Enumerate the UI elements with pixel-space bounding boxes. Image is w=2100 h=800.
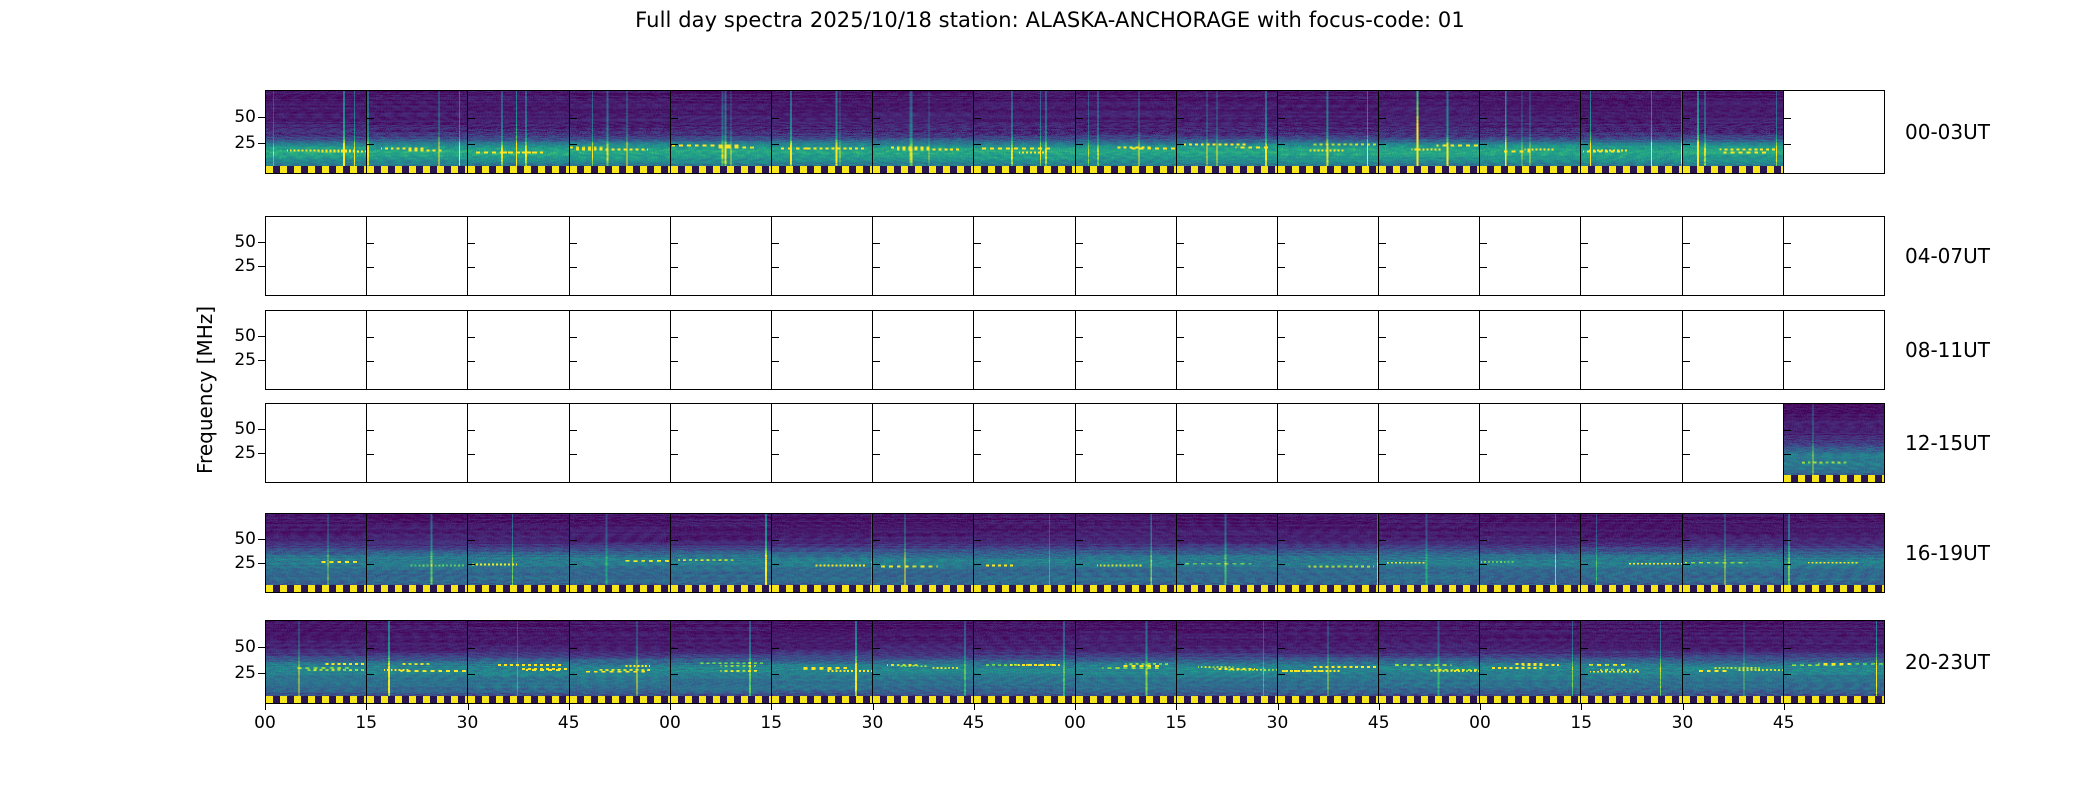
x-axis-tick-label: 15	[760, 713, 782, 733]
y-axis-tick-label: 25	[234, 553, 256, 573]
x-axis-tick	[1784, 704, 1785, 710]
data-availability-strip	[266, 166, 366, 173]
spectrogram-image	[974, 514, 1074, 592]
y-tick-mark	[1177, 454, 1184, 455]
spectrogram-panel	[1682, 621, 1783, 703]
y-tick-mark	[570, 648, 577, 649]
spectrogram-canvas	[468, 91, 568, 173]
y-tick-mark	[1480, 540, 1487, 541]
y-tick-mark	[1581, 430, 1588, 431]
spectrogram-panel	[1075, 311, 1176, 389]
spectrogram-panel	[1479, 404, 1580, 482]
x-axis-tick-label: 45	[1773, 713, 1795, 733]
spectrogram-panel	[1580, 217, 1681, 295]
y-tick-mark	[1581, 540, 1588, 541]
spectrogram-image	[873, 91, 973, 173]
spectrogram-image	[1379, 514, 1479, 592]
spectrogram-image	[772, 621, 872, 703]
spectrogram-panel	[1682, 404, 1783, 482]
data-availability-strip	[873, 166, 973, 173]
spectrogram-canvas	[1379, 621, 1479, 703]
spectrogram-panel	[467, 311, 568, 389]
spectrogram-panel	[1075, 621, 1176, 703]
spectrogram-panel	[1682, 311, 1783, 389]
spectrogram-panel	[1075, 217, 1176, 295]
x-axis-tick	[670, 704, 671, 710]
spectrogram-panel	[872, 621, 973, 703]
spectrogram-panel	[1783, 311, 1884, 389]
y-tick-mark	[1683, 118, 1690, 119]
spectrogram-panel	[771, 514, 872, 592]
data-availability-strip	[1177, 166, 1277, 173]
y-tick-mark	[468, 337, 475, 338]
data-availability-strip	[1278, 166, 1378, 173]
y-tick-mark	[772, 430, 779, 431]
y-tick-mark	[873, 430, 880, 431]
y-tick-mark	[1581, 337, 1588, 338]
y-tick-mark	[974, 144, 981, 145]
spectrogram-panel	[771, 217, 872, 295]
y-tick-mark	[1480, 454, 1487, 455]
data-availability-strip	[1177, 696, 1277, 703]
panel-strip	[266, 217, 1884, 295]
spectrogram-panel	[1783, 217, 1884, 295]
panel-strip	[266, 621, 1884, 703]
x-axis-tick-label: 30	[1672, 713, 1694, 733]
spectrogram-canvas	[570, 621, 670, 703]
spectrogram-image	[1784, 404, 1884, 482]
spectrogram-panel	[467, 217, 568, 295]
spectrogram-panel	[266, 514, 366, 592]
y-tick-mark	[974, 674, 981, 675]
row-frame	[265, 90, 1885, 174]
spectrogram-panel	[1580, 91, 1681, 173]
y-axis-label: Frequency [MHz]	[188, 180, 222, 600]
y-tick-mark	[1683, 267, 1690, 268]
spectrogram-row-16-19ut: 5025	[265, 513, 1885, 593]
spectrogram-canvas	[1581, 514, 1681, 592]
y-axis-tick-label: 50	[234, 637, 256, 657]
data-availability-strip	[1480, 585, 1580, 592]
x-axis-tick-label: 30	[457, 713, 479, 733]
data-availability-strip	[266, 585, 366, 592]
x-axis-tick	[265, 704, 266, 710]
y-tick-mark	[1683, 361, 1690, 362]
spectrogram-panel	[872, 311, 973, 389]
x-axis-tick-label: 00	[1469, 713, 1491, 733]
spectrogram-panel	[366, 311, 467, 389]
y-tick-mark	[1278, 118, 1285, 119]
spectrogram-canvas	[570, 514, 670, 592]
y-axis-tick	[258, 117, 265, 118]
y-tick-mark	[468, 674, 475, 675]
y-tick-mark	[570, 361, 577, 362]
spectrogram-canvas	[974, 514, 1074, 592]
x-axis-tick	[366, 704, 367, 710]
y-tick-mark	[367, 648, 374, 649]
data-availability-strip	[1480, 696, 1580, 703]
spectrogram-canvas	[1379, 91, 1479, 173]
y-tick-mark	[1278, 564, 1285, 565]
data-availability-strip	[367, 585, 467, 592]
spectrogram-image	[570, 91, 670, 173]
spectrogram-canvas	[1683, 621, 1783, 703]
y-tick-mark	[772, 267, 779, 268]
y-tick-mark	[1480, 337, 1487, 338]
y-tick-mark	[1480, 674, 1487, 675]
spectrogram-panel	[1479, 621, 1580, 703]
y-tick-mark	[367, 267, 374, 268]
spectrogram-panel	[467, 404, 568, 482]
spectrogram-panel	[1479, 311, 1580, 389]
y-tick-mark	[1076, 674, 1083, 675]
spectrogram-panel	[973, 217, 1074, 295]
row-time-label: 20-23UT	[1905, 650, 1990, 674]
y-tick-mark	[1480, 430, 1487, 431]
data-availability-strip	[367, 696, 467, 703]
spectrogram-image	[570, 514, 670, 592]
x-axis-tick-label: 00	[1064, 713, 1086, 733]
spectrogram-panel	[771, 311, 872, 389]
y-tick-mark	[772, 648, 779, 649]
data-availability-strip	[1581, 585, 1681, 592]
data-availability-strip	[974, 696, 1074, 703]
spectrogram-canvas	[266, 91, 366, 173]
spectrogram-panel	[973, 311, 1074, 389]
x-axis-tick	[771, 704, 772, 710]
y-tick-mark	[468, 454, 475, 455]
y-tick-mark	[873, 337, 880, 338]
y-tick-mark	[1379, 243, 1386, 244]
spectra-figure: Full day spectra 2025/10/18 station: ALA…	[0, 0, 2100, 800]
y-tick-mark	[1177, 144, 1184, 145]
y-tick-mark	[873, 564, 880, 565]
y-tick-mark	[873, 454, 880, 455]
y-axis-tick	[258, 647, 265, 648]
y-tick-mark	[974, 118, 981, 119]
y-tick-mark	[1784, 674, 1791, 675]
y-tick-mark	[1480, 267, 1487, 268]
y-tick-mark	[873, 674, 880, 675]
spectrogram-panel	[467, 91, 568, 173]
data-availability-strip	[873, 585, 973, 592]
spectrogram-canvas	[266, 621, 366, 703]
y-tick-mark	[367, 564, 374, 565]
y-axis-tick-label: 25	[234, 350, 256, 370]
data-availability-strip	[1177, 585, 1277, 592]
y-tick-mark	[1480, 144, 1487, 145]
spectrogram-panel	[1479, 217, 1580, 295]
spectrogram-canvas	[1784, 404, 1884, 482]
spectrogram-panel	[1783, 514, 1884, 592]
spectrogram-panel	[872, 404, 973, 482]
y-tick-mark	[1076, 540, 1083, 541]
y-axis-tick-label: 50	[234, 326, 256, 346]
row-frame	[265, 403, 1885, 483]
y-tick-mark	[1076, 430, 1083, 431]
y-tick-mark	[671, 361, 678, 362]
spectrogram-image	[1177, 91, 1277, 173]
y-axis-tick-label: 50	[234, 232, 256, 252]
spectrogram-image	[1379, 621, 1479, 703]
spectrogram-panel	[569, 217, 670, 295]
data-availability-strip	[1379, 696, 1479, 703]
y-axis-tick	[258, 453, 265, 454]
spectrogram-panel	[1176, 621, 1277, 703]
data-availability-strip	[1379, 585, 1479, 592]
spectrogram-panel	[1277, 311, 1378, 389]
data-availability-strip	[1784, 585, 1884, 592]
y-tick-mark	[873, 144, 880, 145]
y-tick-mark	[1177, 430, 1184, 431]
spectrogram-panel	[266, 621, 366, 703]
spectrogram-canvas	[1278, 514, 1378, 592]
y-tick-mark	[367, 243, 374, 244]
x-axis-tick	[569, 704, 570, 710]
y-tick-mark	[671, 118, 678, 119]
data-availability-strip	[468, 585, 568, 592]
spectrogram-image	[873, 621, 973, 703]
y-tick-mark	[1076, 454, 1083, 455]
spectrogram-panel	[1277, 621, 1378, 703]
y-tick-mark	[974, 430, 981, 431]
y-tick-mark	[1784, 540, 1791, 541]
data-availability-strip	[671, 585, 771, 592]
y-tick-mark	[1379, 118, 1386, 119]
x-axis-tick-label: 00	[659, 713, 681, 733]
spectrogram-panel	[1176, 311, 1277, 389]
spectrogram-panel	[1176, 404, 1277, 482]
x-axis-tick-label: 30	[1267, 713, 1289, 733]
y-tick-mark	[1784, 267, 1791, 268]
y-axis-tick	[258, 563, 265, 564]
spectrogram-canvas	[974, 621, 1074, 703]
y-tick-mark	[1480, 564, 1487, 565]
spectrogram-image	[1683, 514, 1783, 592]
y-tick-mark	[468, 540, 475, 541]
y-tick-mark	[1581, 267, 1588, 268]
x-axis-tick	[1075, 704, 1076, 710]
spectrogram-row-12-15ut: 5025	[265, 403, 1885, 483]
y-axis-tick	[258, 143, 265, 144]
spectrogram-canvas	[772, 91, 872, 173]
y-tick-mark	[772, 118, 779, 119]
y-tick-mark	[1581, 648, 1588, 649]
spectrogram-canvas	[1076, 621, 1176, 703]
y-tick-mark	[1379, 454, 1386, 455]
spectrogram-image	[468, 91, 568, 173]
y-tick-mark	[772, 540, 779, 541]
data-availability-strip	[266, 696, 366, 703]
spectrogram-image	[1581, 514, 1681, 592]
spectrogram-panel	[266, 311, 366, 389]
y-tick-mark	[1784, 564, 1791, 565]
spectrogram-image	[570, 621, 670, 703]
y-tick-mark	[1480, 118, 1487, 119]
data-availability-strip	[1278, 585, 1378, 592]
spectrogram-canvas	[367, 91, 467, 173]
spectrogram-canvas	[468, 514, 568, 592]
spectrogram-panel	[366, 404, 467, 482]
spectrogram-panel	[1783, 621, 1884, 703]
spectrogram-panel	[1277, 514, 1378, 592]
spectrogram-panel	[1580, 311, 1681, 389]
spectrogram-image	[266, 514, 366, 592]
data-availability-strip	[468, 696, 568, 703]
data-availability-strip	[1278, 696, 1378, 703]
y-tick-mark	[1480, 243, 1487, 244]
panel-strip	[266, 514, 1884, 592]
data-availability-strip	[1581, 696, 1681, 703]
y-axis-tick	[258, 673, 265, 674]
y-tick-mark	[1076, 118, 1083, 119]
y-tick-mark	[1581, 243, 1588, 244]
y-tick-mark	[1480, 361, 1487, 362]
x-axis-tick-label: 45	[558, 713, 580, 733]
y-tick-mark	[1784, 454, 1791, 455]
spectrogram-image	[367, 621, 467, 703]
spectrogram-panel	[1378, 621, 1479, 703]
y-tick-mark	[468, 430, 475, 431]
y-tick-mark	[367, 337, 374, 338]
y-tick-mark	[1480, 648, 1487, 649]
y-tick-mark	[671, 564, 678, 565]
spectrogram-panel	[1783, 91, 1884, 173]
spectrogram-panel	[973, 404, 1074, 482]
y-tick-mark	[1784, 361, 1791, 362]
spectrogram-canvas	[1480, 91, 1580, 173]
data-availability-strip	[1480, 166, 1580, 173]
y-tick-mark	[873, 118, 880, 119]
spectrogram-canvas	[671, 621, 771, 703]
y-tick-mark	[1581, 144, 1588, 145]
spectrogram-image	[974, 91, 1074, 173]
spectrogram-image	[1278, 621, 1378, 703]
y-tick-mark	[671, 144, 678, 145]
y-tick-mark	[1278, 361, 1285, 362]
spectrogram-canvas	[1177, 91, 1277, 173]
y-tick-mark	[1379, 564, 1386, 565]
y-tick-mark	[1076, 267, 1083, 268]
spectrogram-panel	[973, 514, 1074, 592]
y-tick-mark	[772, 243, 779, 244]
row-time-label: 08-11UT	[1905, 338, 1990, 362]
y-tick-mark	[1177, 674, 1184, 675]
y-tick-mark	[1581, 361, 1588, 362]
spectrogram-panel	[366, 217, 467, 295]
y-tick-mark	[1581, 564, 1588, 565]
spectrogram-canvas	[772, 514, 872, 592]
x-axis-tick-label: 45	[963, 713, 985, 733]
spectrogram-image	[1076, 514, 1176, 592]
y-tick-mark	[1177, 564, 1184, 565]
data-availability-strip	[671, 166, 771, 173]
y-tick-mark	[1379, 337, 1386, 338]
data-availability-strip	[570, 585, 670, 592]
spectrogram-canvas	[1784, 514, 1884, 592]
y-axis-tick	[258, 360, 265, 361]
data-availability-strip	[772, 166, 872, 173]
x-axis-tick-label: 15	[1165, 713, 1187, 733]
spectrogram-canvas	[1379, 514, 1479, 592]
spectrogram-panel	[1580, 621, 1681, 703]
spectrogram-canvas	[1683, 91, 1783, 173]
y-tick-mark	[1379, 674, 1386, 675]
y-tick-mark	[1581, 454, 1588, 455]
y-tick-mark	[1784, 144, 1791, 145]
spectrogram-panel	[569, 621, 670, 703]
y-axis-tick	[258, 336, 265, 337]
spectrogram-image	[367, 91, 467, 173]
spectrogram-panel	[1783, 404, 1884, 482]
spectrogram-panel	[1277, 91, 1378, 173]
y-tick-mark	[367, 361, 374, 362]
y-tick-mark	[1177, 243, 1184, 244]
row-frame	[265, 513, 1885, 593]
y-tick-mark	[1278, 144, 1285, 145]
y-tick-mark	[974, 361, 981, 362]
spectrogram-image	[1076, 91, 1176, 173]
y-tick-mark	[772, 564, 779, 565]
y-tick-mark	[1683, 430, 1690, 431]
spectrogram-image	[468, 514, 568, 592]
data-availability-strip	[1683, 696, 1783, 703]
y-tick-mark	[1784, 243, 1791, 244]
spectrogram-canvas	[974, 91, 1074, 173]
spectrogram-image	[772, 91, 872, 173]
y-tick-mark	[1076, 243, 1083, 244]
spectrogram-panel	[569, 514, 670, 592]
x-axis-tick	[468, 704, 469, 710]
x-axis-tick-label: 30	[862, 713, 884, 733]
y-tick-mark	[1177, 267, 1184, 268]
data-availability-strip	[1581, 166, 1681, 173]
y-tick-mark	[1379, 361, 1386, 362]
spectrogram-panel	[1075, 404, 1176, 482]
y-tick-mark	[671, 337, 678, 338]
y-tick-mark	[772, 674, 779, 675]
y-tick-mark	[1278, 540, 1285, 541]
y-axis-tick-label: 50	[234, 529, 256, 549]
y-tick-mark	[1177, 361, 1184, 362]
spectrogram-canvas	[1581, 621, 1681, 703]
spectrogram-image	[266, 91, 366, 173]
spectrogram-canvas	[570, 91, 670, 173]
spectrogram-image	[266, 621, 366, 703]
spectrogram-panel	[1682, 91, 1783, 173]
data-availability-strip	[468, 166, 568, 173]
y-tick-mark	[1379, 540, 1386, 541]
y-axis-tick-label: 25	[234, 133, 256, 153]
spectrogram-image	[1177, 621, 1277, 703]
data-availability-strip	[1076, 585, 1176, 592]
spectrogram-panel	[1580, 514, 1681, 592]
spectrogram-image	[671, 514, 771, 592]
y-tick-mark	[1784, 430, 1791, 431]
row-time-label: 04-07UT	[1905, 244, 1990, 268]
data-availability-strip	[671, 696, 771, 703]
spectrogram-canvas	[1581, 91, 1681, 173]
spectrogram-image	[671, 91, 771, 173]
spectrogram-canvas	[266, 514, 366, 592]
spectrogram-panel	[467, 621, 568, 703]
y-tick-mark	[671, 674, 678, 675]
spectrogram-panel	[771, 404, 872, 482]
y-axis-tick	[258, 242, 265, 243]
row-time-label: 00-03UT	[1905, 120, 1990, 144]
spectrogram-panel	[670, 621, 771, 703]
row-frame	[265, 310, 1885, 390]
